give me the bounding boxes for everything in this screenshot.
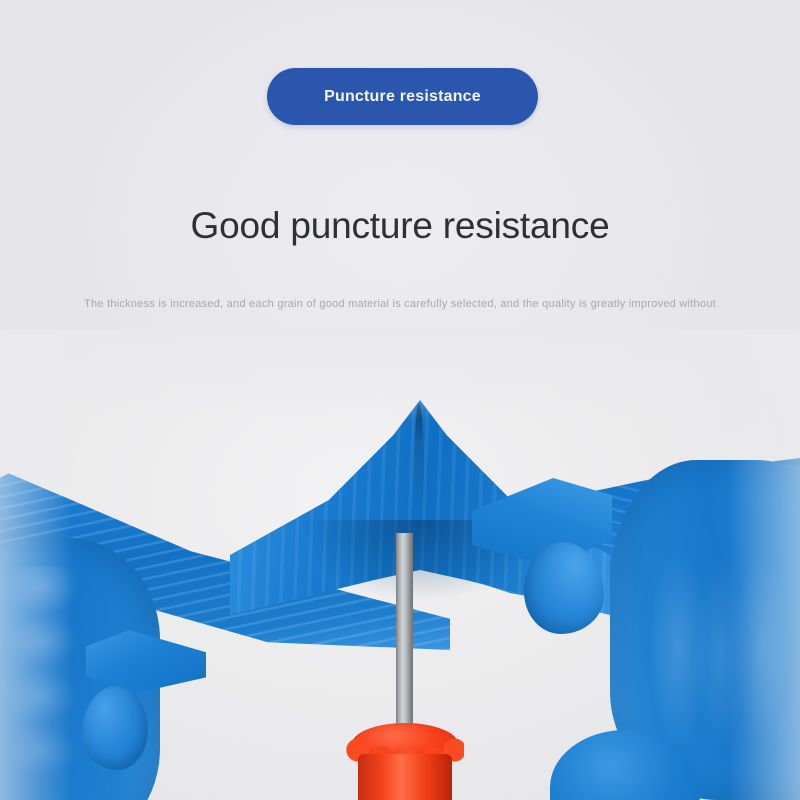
screwdriver-red-handle (358, 754, 452, 800)
promo-page: Puncture resistance Good puncture resist… (0, 0, 800, 800)
page-title: Good puncture resistance (0, 205, 800, 247)
screwdriver-metal-shaft (396, 533, 413, 733)
description-line-1: The thickness is increased, and each gra… (0, 282, 800, 326)
section-badge-label: Puncture resistance (324, 88, 481, 106)
left-hand-knuckles (0, 566, 98, 800)
product-photo (0, 330, 800, 800)
section-badge[interactable]: Puncture resistance (267, 68, 538, 125)
left-hand-thumb (82, 686, 148, 770)
